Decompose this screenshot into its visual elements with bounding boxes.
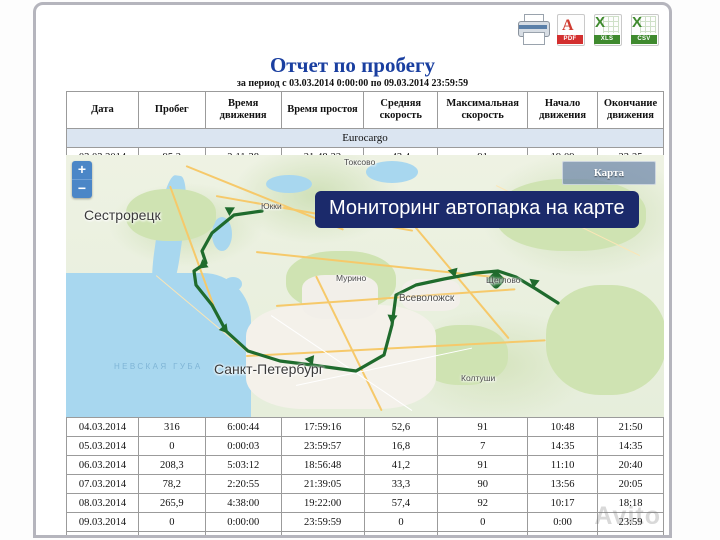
- table-row-cell-2: 5:03:12: [205, 456, 281, 475]
- avito-watermark: Avito: [594, 502, 661, 531]
- table-row-cell-4: 16,8: [364, 437, 438, 456]
- table-total-row-cell-4: 47,6: [364, 532, 438, 539]
- table-total-row-cell-1: 963,7: [138, 532, 205, 539]
- table-row-cell-2: 0:00:03: [205, 437, 281, 456]
- table-row-cell-7: 20:40: [598, 456, 664, 475]
- table-row-cell-0: 07.03.2014: [67, 475, 139, 494]
- table-row-cell-1: 316: [138, 418, 205, 437]
- map-label-8: НЕВСКАЯ ГУБА: [114, 362, 203, 371]
- table-row-cell-2: 6:00:44: [205, 418, 281, 437]
- table-total-row-cell-3: 6д 3:45:27: [281, 532, 364, 539]
- map-type-button[interactable]: Карта: [562, 161, 656, 185]
- zoom-out-button[interactable]: −: [72, 180, 92, 198]
- column-header-5: Максимальная скорость: [438, 92, 528, 129]
- table-row: 07.03.201478,22:20:5521:39:0533,39013:56…: [67, 475, 664, 494]
- table-row-cell-1: 78,2: [138, 475, 205, 494]
- table-row-cell-5: 7: [438, 437, 528, 456]
- column-header-2: Время движения: [205, 92, 281, 129]
- promo-banner: Мониторинг автопарка на карте: [315, 191, 639, 228]
- pdf-glyph: A: [562, 17, 577, 33]
- table-row-cell-3: 18:56:48: [281, 456, 364, 475]
- table-row-cell-5: 91: [438, 418, 528, 437]
- pdf-export-icon[interactable]: A PDF: [555, 13, 585, 45]
- column-header-0: Дата: [67, 92, 139, 129]
- map-label-3: Токсово: [344, 157, 375, 167]
- column-header-6: Начало движения: [528, 92, 598, 129]
- table-row-cell-6: 14:35: [528, 437, 598, 456]
- table-row-cell-0: 08.03.2014: [67, 494, 139, 513]
- table-total-row-cell-2: 20:14:32: [205, 532, 281, 539]
- table-row-cell-5: 90: [438, 475, 528, 494]
- vehicle-group-row: Eurocargo: [67, 129, 664, 148]
- table-row-cell-3: 21:39:05: [281, 475, 364, 494]
- table-row: 08.03.2014265,94:38:0019:22:0057,49210:1…: [67, 494, 664, 513]
- table-row-cell-6: 0:00: [528, 513, 598, 532]
- map-label-2: Всеволожск: [399, 293, 454, 304]
- table-row-cell-2: 4:38:00: [205, 494, 281, 513]
- report-table-bottom: 04.03.20143166:00:4417:59:1652,69110:482…: [66, 417, 664, 538]
- vehicle-group-label: Eurocargo: [67, 129, 664, 148]
- table-row-cell-1: 0: [138, 437, 205, 456]
- table-row-cell-0: 05.03.2014: [67, 437, 139, 456]
- pdf-label: PDF: [557, 35, 583, 44]
- table-row-cell-2: 2:20:55: [205, 475, 281, 494]
- table-row-cell-7: 21:50: [598, 418, 664, 437]
- csv-export-icon[interactable]: X CSV: [629, 13, 659, 45]
- table-row-cell-3: 23:59:59: [281, 513, 364, 532]
- table-row-cell-1: 0: [138, 513, 205, 532]
- map-label-1: Санкт-Петербург: [214, 361, 324, 377]
- report-page-card: A PDF X XLS X CSV Отчет по пробегу за пе…: [33, 2, 672, 538]
- xls-grid: [603, 16, 619, 33]
- print-icon[interactable]: [518, 13, 548, 45]
- table-row-cell-7: 20:05: [598, 475, 664, 494]
- printer-band: [519, 25, 547, 29]
- page-title: Отчет по пробегу: [36, 53, 669, 78]
- column-header-1: Пробег: [138, 92, 205, 129]
- table-row-cell-0: 06.03.2014: [67, 456, 139, 475]
- table-row-cell-6: 10:48: [528, 418, 598, 437]
- table-row-cell-4: 33,3: [364, 475, 438, 494]
- xls-label: XLS: [594, 35, 620, 44]
- table-row-cell-6: 13:56: [528, 475, 598, 494]
- map-label-6: Щеглово: [486, 275, 521, 285]
- map-label-7: Колтуши: [461, 373, 495, 383]
- map-label-5: Мурино: [336, 273, 366, 283]
- export-toolbar: A PDF X XLS X CSV: [518, 13, 659, 45]
- table-row-cell-3: 19:22:00: [281, 494, 364, 513]
- table-row-cell-0: 09.03.2014: [67, 513, 139, 532]
- route-map[interactable]: + − Карта Мониторинг автопарка на карте …: [66, 155, 664, 417]
- table-row-cell-4: 41,2: [364, 456, 438, 475]
- table-total-row-cell-7: 23:59: [598, 532, 664, 539]
- table-row-cell-6: 10:17: [528, 494, 598, 513]
- table-row-cell-0: 04.03.2014: [67, 418, 139, 437]
- table-row-cell-3: 17:59:16: [281, 418, 364, 437]
- route-arrow-5: [387, 315, 398, 325]
- table-row-cell-5: 0: [438, 513, 528, 532]
- table-row-cell-5: 92: [438, 494, 528, 513]
- zoom-in-button[interactable]: +: [72, 161, 92, 179]
- table-row: 04.03.20143166:00:4417:59:1652,69110:482…: [67, 418, 664, 437]
- report-period-subtitle: за период с 03.03.2014 0:00:00 по 09.03.…: [36, 78, 669, 89]
- column-header-4: Средняя скорость: [364, 92, 438, 129]
- table-row: 06.03.2014208,35:03:1218:56:4841,29111:1…: [67, 456, 664, 475]
- table-row-cell-4: 0: [364, 513, 438, 532]
- table-total-row: Итого963,720:14:326д 3:45:2747,69219:092…: [67, 532, 664, 539]
- map-label-0: Сестрорецк: [84, 207, 161, 223]
- table-row-cell-4: 52,6: [364, 418, 438, 437]
- printer-paper-out: [523, 32, 545, 45]
- table-row: 09.03.201400:00:0023:59:59000:0023:59: [67, 513, 664, 532]
- xls-x-glyph: X: [595, 14, 605, 31]
- table-row-cell-2: 0:00:00: [205, 513, 281, 532]
- table-row-cell-3: 23:59:57: [281, 437, 364, 456]
- csv-grid: [640, 16, 656, 33]
- table-row-cell-7: 14:35: [598, 437, 664, 456]
- table-row-cell-4: 57,4: [364, 494, 438, 513]
- column-header-7: Окончание движения: [597, 92, 663, 129]
- xls-export-icon[interactable]: X XLS: [592, 13, 622, 45]
- map-zoom-control[interactable]: + −: [72, 161, 92, 198]
- table-row-cell-6: 11:10: [528, 456, 598, 475]
- table-header-row: ДатаПробегВремя движенияВремя простояСре…: [67, 92, 664, 129]
- route-arrow-2: [197, 258, 208, 268]
- table-total-row-cell-6: 19:09: [528, 532, 598, 539]
- table-row-cell-1: 265,9: [138, 494, 205, 513]
- table-row-cell-5: 91: [438, 456, 528, 475]
- table-total-row-cell-0: Итого: [67, 532, 139, 539]
- table-row: 05.03.201400:00:0323:59:5716,8714:3514:3…: [67, 437, 664, 456]
- csv-x-glyph: X: [632, 14, 642, 31]
- table-row-cell-1: 208,3: [138, 456, 205, 475]
- column-header-3: Время простоя: [281, 92, 364, 129]
- map-label-4: Юкки: [261, 201, 282, 211]
- table-total-row-cell-5: 92: [438, 532, 528, 539]
- csv-label: CSV: [631, 35, 657, 44]
